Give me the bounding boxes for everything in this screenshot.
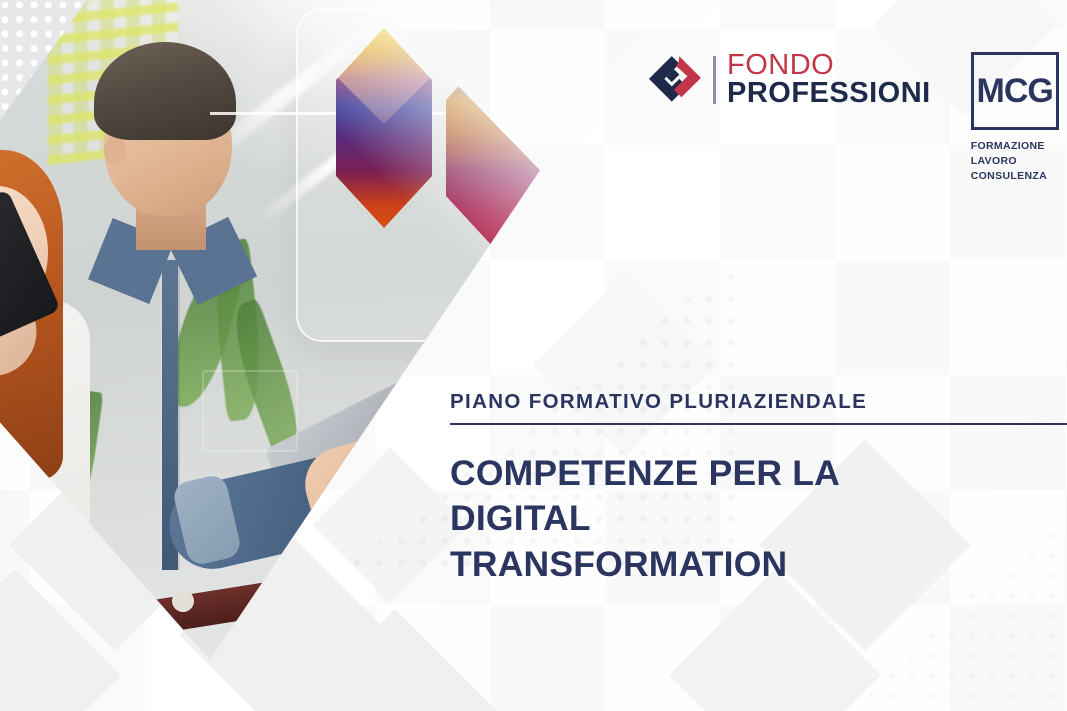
mcg-logo-text: MCG [977,72,1053,111]
mcg-logo-subtitle: FORMAZIONE LAVORO CONSULENZA [971,139,1047,185]
logo-line-fondo: FONDO [727,52,931,80]
mcg-logo-box: MCG [971,52,1059,130]
mcg-logo: MCG FORMAZIONE LAVORO CONSULENZA [971,52,1059,185]
fondo-professioni-logo: FONDO PROFESSIONI [648,52,931,108]
fondo-professioni-monogram-icon [648,53,702,107]
logo-line-professioni: PROFESSIONI [727,80,931,108]
eyebrow-text: PIANO FORMATIVO PLURIAZIENDALE [450,390,1067,423]
fondo-professioni-wordmark: FONDO PROFESSIONI [727,52,931,108]
mcg-subtitle-line-1: FORMAZIONE [971,139,1047,154]
logo-divider [713,56,716,104]
logo-row: FONDO PROFESSIONI MCG FORMAZIONE LAVORO … [648,52,1059,185]
headline-rule [450,423,1067,425]
page-title-line-2: TRANSFORMATION [450,542,950,587]
page-title: COMPETENZE PER LA DIGITAL TRANSFORMATION [450,451,950,587]
slide-canvas: FONDO PROFESSIONI MCG FORMAZIONE LAVORO … [0,0,1067,711]
page-title-line-1: COMPETENZE PER LA DIGITAL [450,451,950,542]
mcg-subtitle-line-2: LAVORO [971,154,1047,169]
mcg-subtitle-line-3: CONSULENZA [971,169,1047,184]
headline-block: PIANO FORMATIVO PLURIAZIENDALE COMPETENZ… [450,390,1067,587]
